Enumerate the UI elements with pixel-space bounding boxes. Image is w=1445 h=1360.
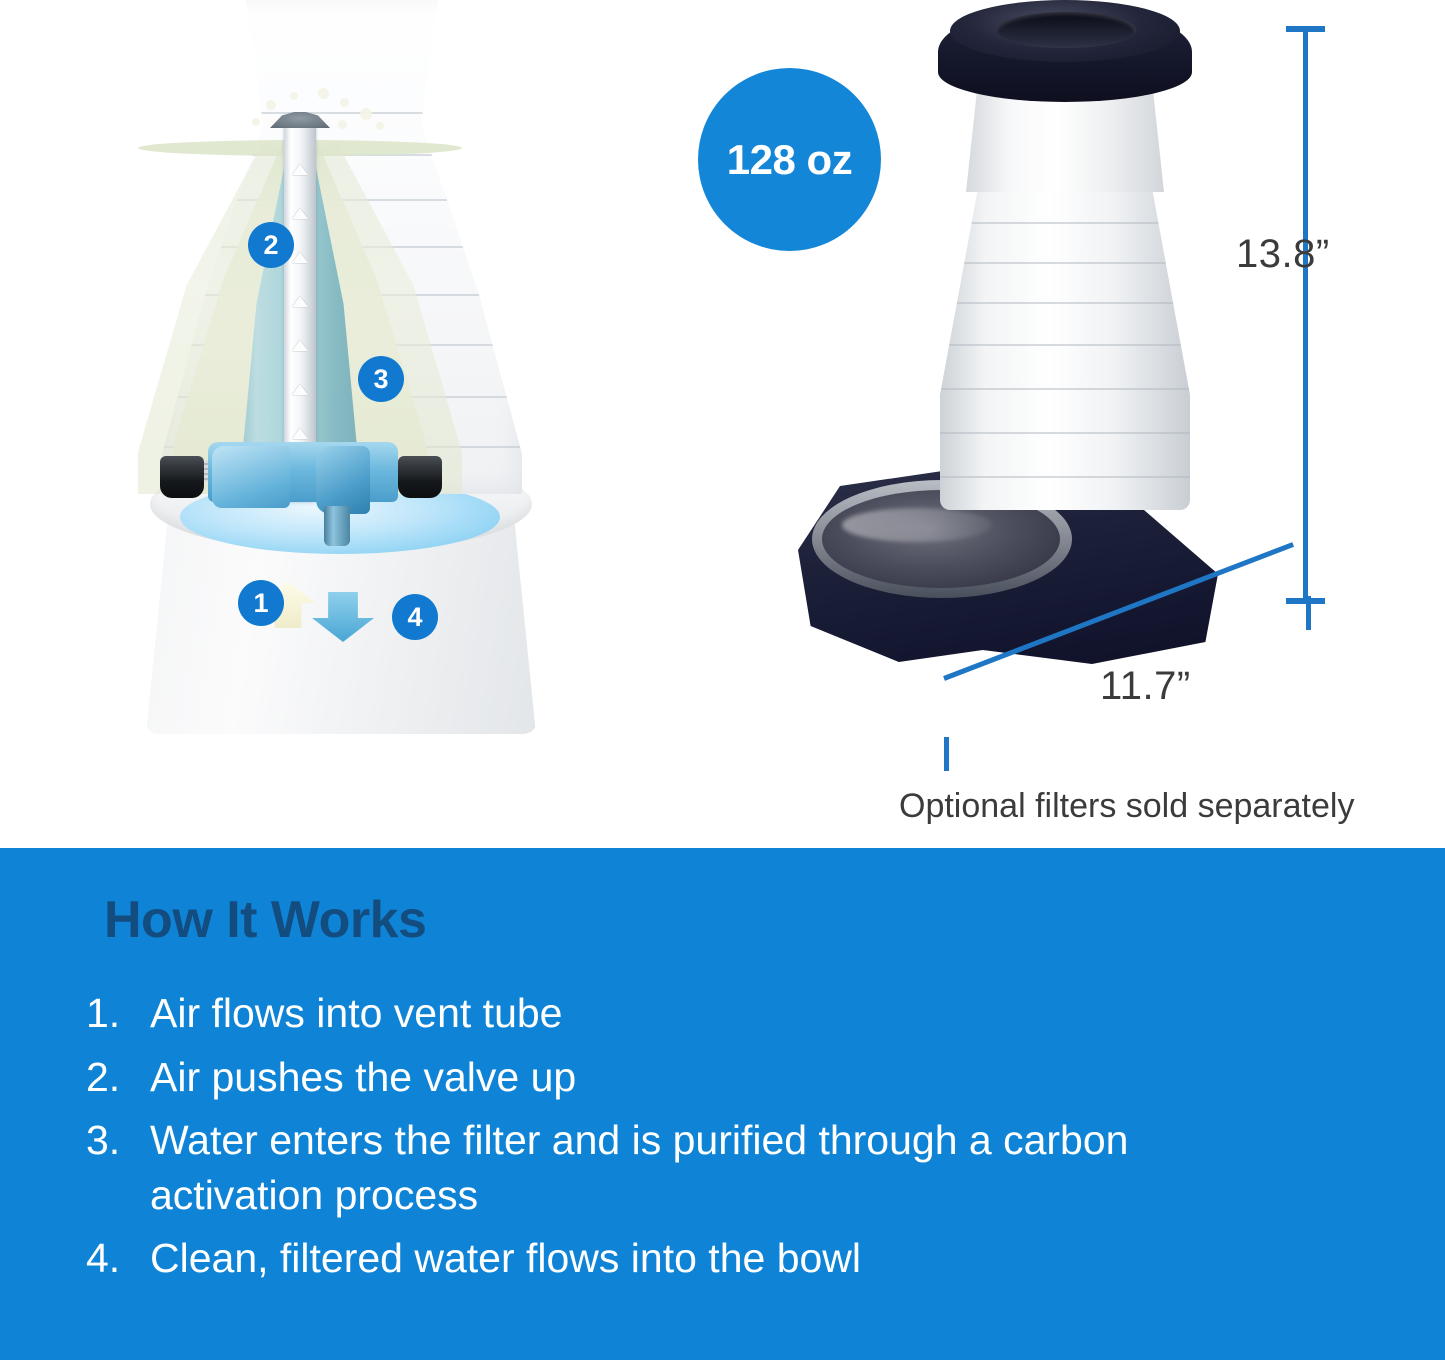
filter-clip-right (398, 456, 442, 498)
step-number: 4. (86, 1231, 150, 1286)
callout-1: 1 (238, 580, 284, 626)
list-item: 2. Air pushes the valve up (86, 1050, 1386, 1105)
width-dimension-label: 11.7” (1100, 664, 1191, 709)
product-reservoir (940, 150, 1190, 510)
step-text: Clean, filtered water flows into the bow… (150, 1231, 1280, 1286)
how-it-works-steps: 1. Air flows into vent tube 2. Air pushe… (86, 986, 1386, 1295)
cutaway-diagram: 2 3 1 4 (120, 0, 580, 754)
step-text: Air pushes the valve up (150, 1050, 1280, 1105)
outlet-spout (324, 506, 350, 546)
air-bubble-icon (338, 120, 347, 129)
air-bubble-icon (340, 98, 349, 107)
water-manifold-left (212, 446, 290, 508)
air-bubble-icon (266, 100, 276, 110)
valve (316, 446, 370, 514)
air-bubble-icon (318, 88, 329, 99)
width-dimension-cap-left (944, 737, 949, 771)
filters-disclaimer: Optional filters sold separately (899, 787, 1354, 826)
product-bowl-highlight (842, 508, 992, 542)
height-dimension-label: 13.8” (1236, 232, 1330, 277)
callout-4: 4 (392, 594, 438, 640)
step-number: 3. (86, 1113, 150, 1222)
infographic-canvas: 2 3 1 4 (0, 0, 1445, 1360)
air-bubble-icon (252, 118, 260, 126)
capacity-badge-label: 128 oz (727, 136, 852, 184)
filter-clip-left (160, 456, 204, 498)
callout-2: 2 (248, 222, 294, 268)
step-number: 2. (86, 1050, 150, 1105)
step-text: Air flows into vent tube (150, 986, 1280, 1041)
product-images-area: 2 3 1 4 (0, 0, 1445, 848)
product-cap-handle-slot (996, 12, 1136, 48)
how-it-works-title: How It Works (104, 890, 426, 950)
air-bubble-icon (290, 92, 298, 100)
how-it-works-panel: How It Works 1. Air flows into vent tube… (0, 848, 1445, 1360)
air-bubble-icon (376, 122, 384, 130)
step-text: Water enters the filter and is purified … (150, 1113, 1280, 1222)
air-bubble-icon (360, 108, 372, 120)
capacity-badge: 128 oz (698, 68, 881, 251)
width-dimension-cap-right (1306, 596, 1311, 630)
list-item: 4. Clean, filtered water flows into the … (86, 1231, 1386, 1286)
callout-3: 3 (358, 356, 404, 402)
height-dimension-line (1303, 28, 1308, 604)
step-number: 1. (86, 986, 150, 1041)
list-item: 1. Air flows into vent tube (86, 986, 1386, 1041)
list-item: 3. Water enters the filter and is purifi… (86, 1113, 1386, 1222)
